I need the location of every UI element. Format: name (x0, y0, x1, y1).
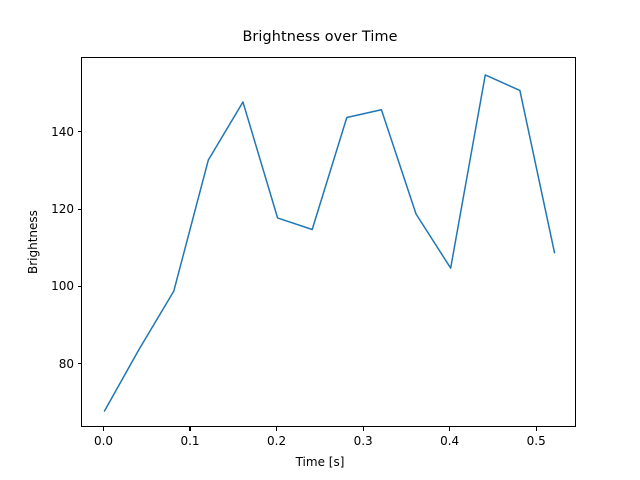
x-tick-label: 0.2 (267, 434, 286, 448)
y-tick-mark (78, 131, 82, 132)
x-tick-mark (449, 427, 450, 431)
x-tick-mark (536, 427, 537, 431)
y-tick-mark (78, 363, 82, 364)
y-tick-label: 100 (30, 279, 74, 293)
x-tick-mark (276, 427, 277, 431)
x-tick-label: 0.5 (527, 434, 546, 448)
x-axis-label: Time [s] (0, 455, 640, 469)
x-tick-mark (103, 427, 104, 431)
x-tick-label: 0.0 (94, 434, 113, 448)
plot-area (81, 57, 576, 427)
line-plot-svg (82, 58, 577, 428)
x-tick-label: 0.3 (354, 434, 373, 448)
x-tick-mark (189, 427, 190, 431)
y-tick-mark (78, 209, 82, 210)
y-axis-label: Brightness (26, 210, 40, 274)
y-tick-label: 140 (30, 125, 74, 139)
y-tick-label: 80 (30, 357, 74, 371)
chart-title: Brightness over Time (0, 29, 640, 45)
x-tick-label: 0.1 (180, 434, 199, 448)
chart-figure: Brightness over Time Brightness Time [s]… (0, 0, 640, 480)
y-tick-mark (78, 286, 82, 287)
x-tick-label: 0.4 (440, 434, 459, 448)
x-tick-mark (363, 427, 364, 431)
data-series-line (105, 75, 555, 411)
y-tick-label: 120 (30, 202, 74, 216)
